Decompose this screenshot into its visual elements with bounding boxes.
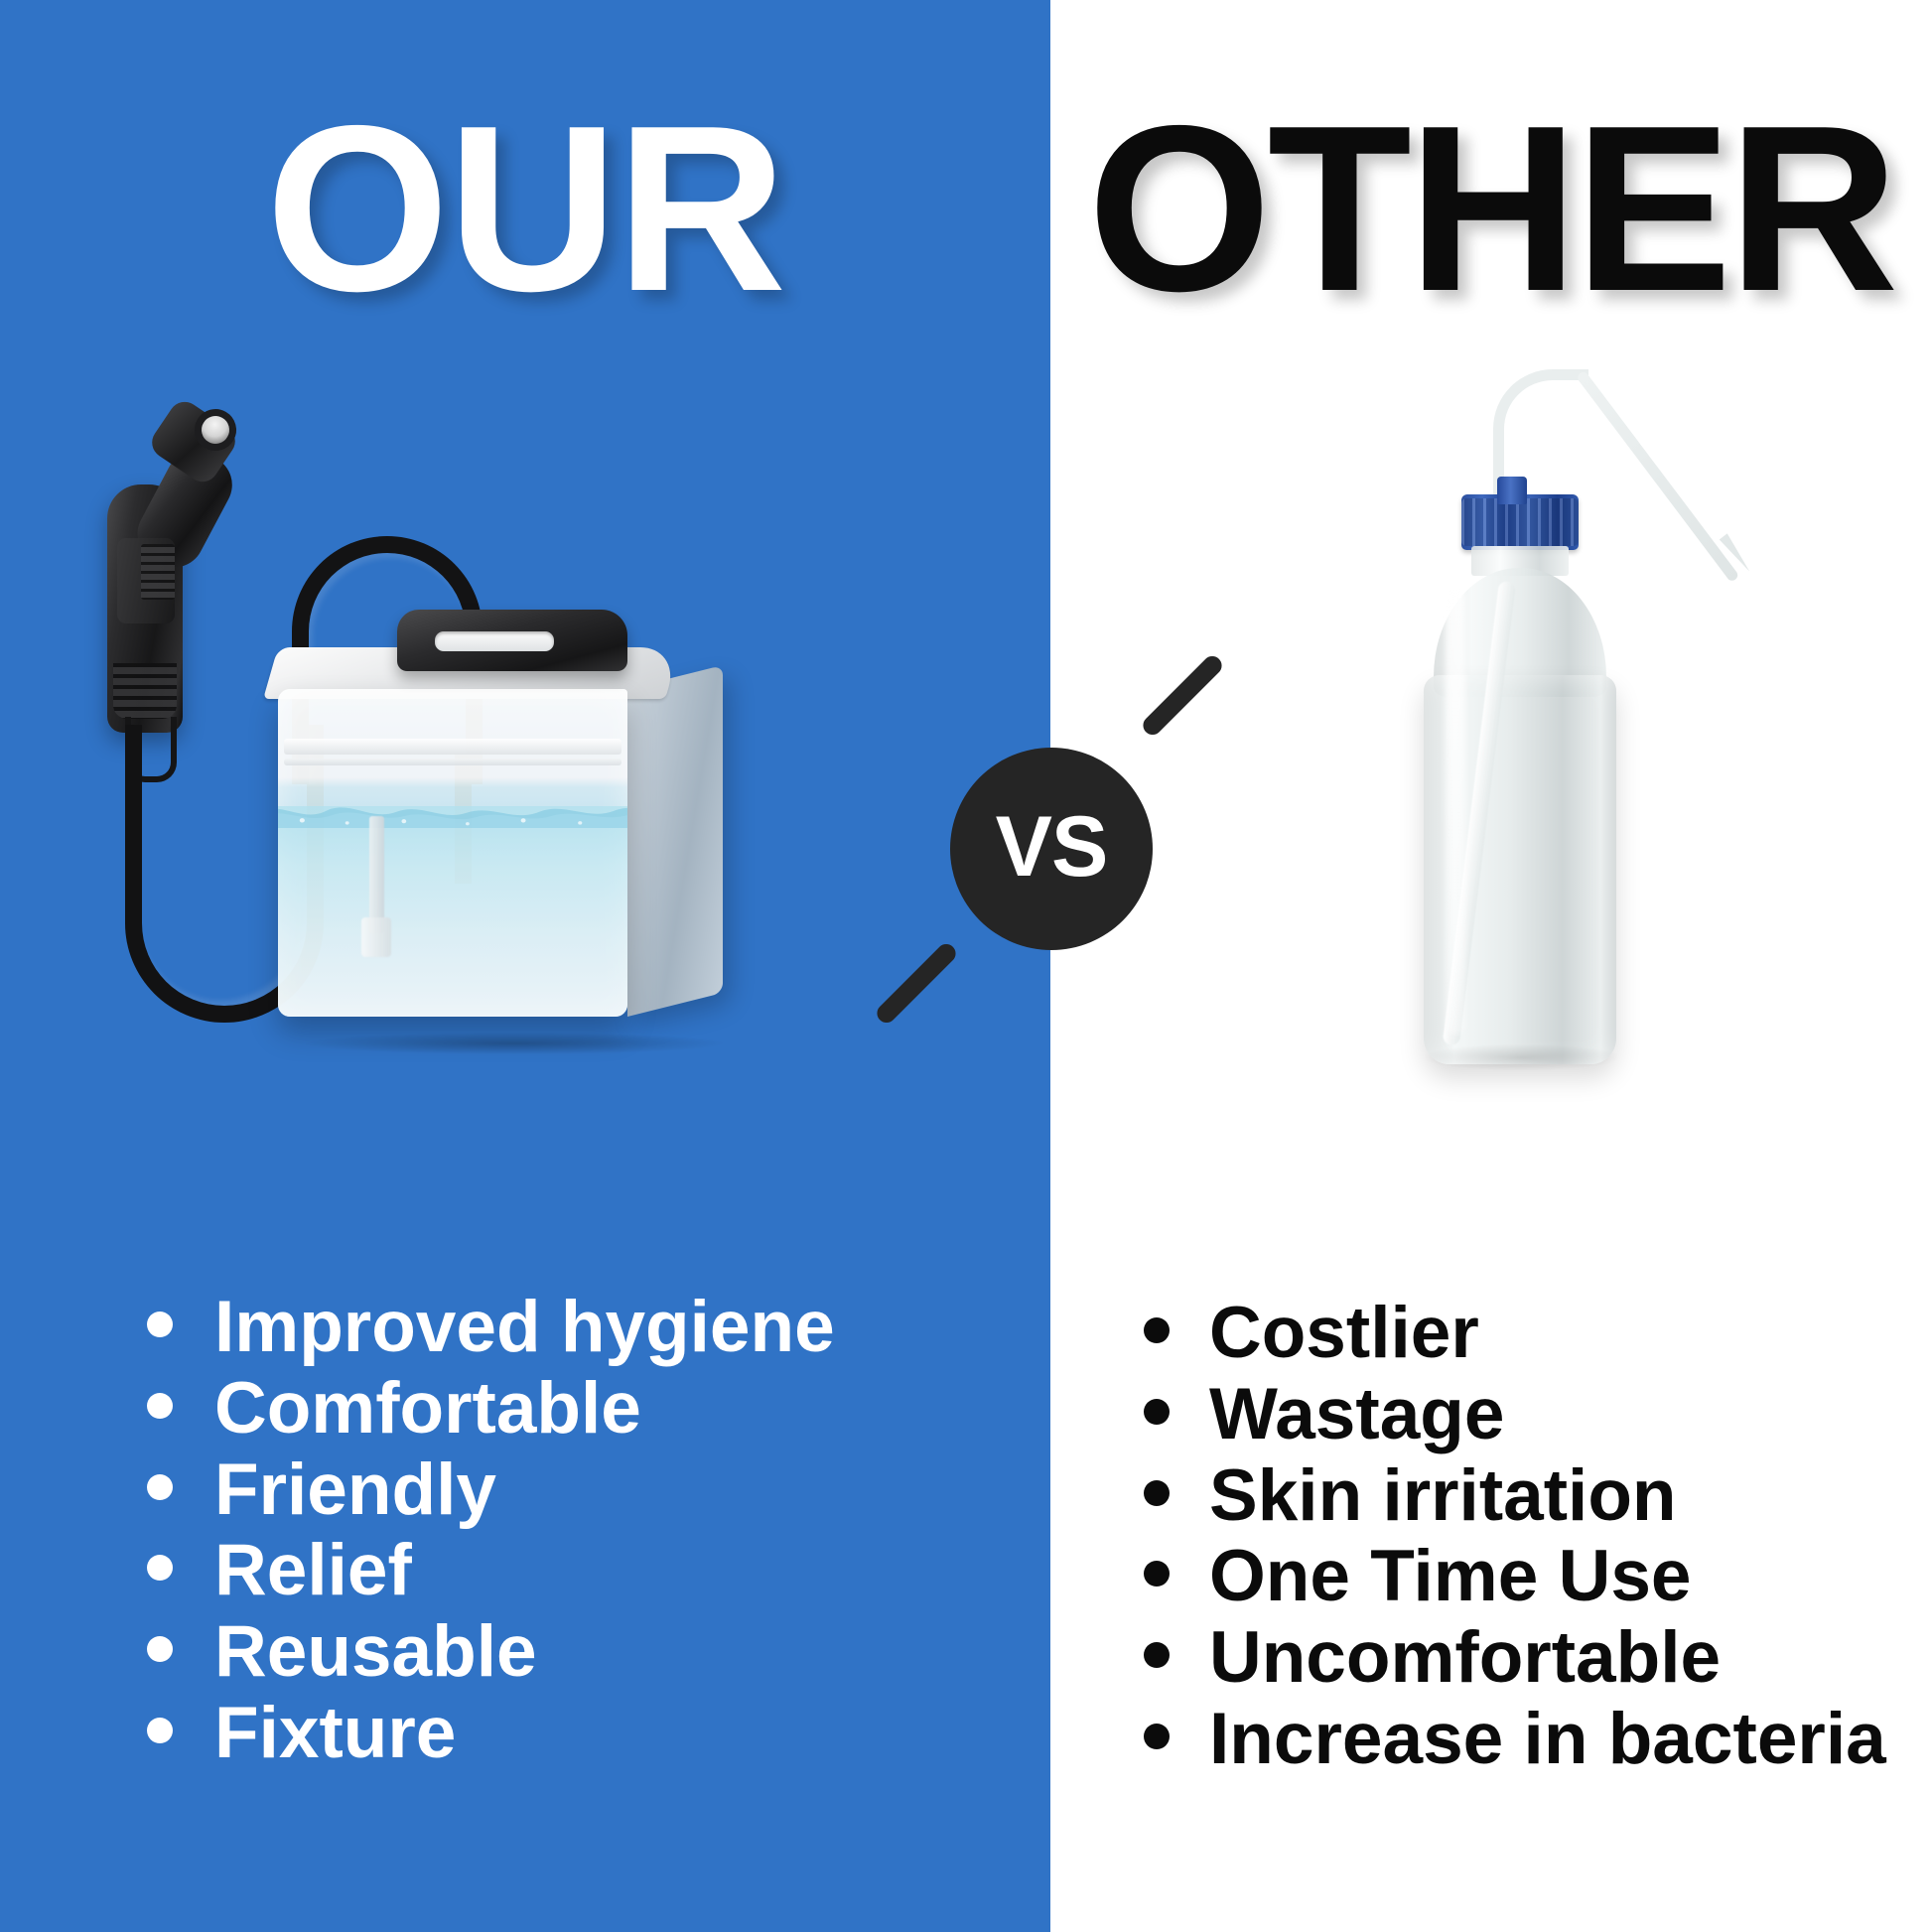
bullet-label: One Time Use (1209, 1536, 1692, 1617)
list-item: One Time Use (1144, 1536, 1886, 1617)
tank-rim-line-2 (284, 759, 621, 765)
spout-diagonal (1576, 370, 1739, 583)
other-title: OTHER (1050, 91, 1932, 328)
bullet-dot-icon (1144, 1480, 1170, 1506)
bullet-label: Costlier (1209, 1293, 1479, 1374)
bullet-label: Relief (214, 1530, 412, 1611)
bullet-label: Wastage (1209, 1374, 1505, 1455)
versus-badge-circle: VS (950, 748, 1153, 950)
bottle-drop-shadow (1426, 1044, 1616, 1070)
water-surface-wave (278, 794, 627, 828)
bottle-cap-spout-collar (1497, 477, 1527, 504)
bullet-label: Skin irritation (1209, 1455, 1677, 1537)
list-item: Costlier (1144, 1293, 1886, 1374)
versus-accent-line-top-right (1140, 652, 1226, 739)
bullet-dot-icon (1144, 1724, 1170, 1749)
bullet-label: Improved hygiene (214, 1287, 835, 1368)
list-item: Skin irritation (1144, 1455, 1886, 1537)
bottle-highlight (1446, 588, 1465, 1035)
list-item: Relief (147, 1530, 835, 1611)
versus-badge-group: VS (847, 646, 1254, 1053)
bullet-label: Comfortable (214, 1368, 641, 1449)
bullet-dot-icon (1144, 1561, 1170, 1587)
bottle-cap-ribs (1461, 498, 1579, 546)
tank-front-face (278, 689, 627, 1017)
list-item: Increase in bacteria (1144, 1699, 1886, 1780)
bullet-label: Uncomfortable (1209, 1617, 1721, 1699)
comparison-infographic: OUR OTHER (0, 0, 1932, 1932)
tank-rim-line (284, 739, 621, 755)
tank-handle-opening (435, 631, 554, 651)
versus-label: VS (996, 804, 1108, 890)
sprayer-grip-ribs (141, 544, 175, 600)
water-tank (278, 647, 735, 1064)
list-item: Fixture (147, 1693, 835, 1774)
bullet-dot-icon (1144, 1317, 1170, 1343)
bullet-dot-icon (1144, 1642, 1170, 1668)
versus-accent-line-bottom-left (874, 940, 960, 1027)
list-item: Friendly (147, 1449, 835, 1531)
bullet-label: Increase in bacteria (1209, 1699, 1886, 1780)
other-drawbacks-list: Costlier Wastage Skin irritation One Tim… (1144, 1293, 1886, 1780)
tank-internal-tube (369, 816, 384, 933)
our-product-image (69, 427, 894, 1082)
bullet-dot-icon (147, 1555, 173, 1581)
bullet-dot-icon (147, 1636, 173, 1662)
list-item: Wastage (1144, 1374, 1886, 1455)
our-title: OUR (0, 91, 1050, 328)
list-item: Comfortable (147, 1368, 835, 1449)
list-item: Improved hygiene (147, 1287, 835, 1368)
bullet-dot-icon (147, 1718, 173, 1743)
tank-drop-shadow (306, 1033, 723, 1054)
spout-arc (1493, 369, 1588, 488)
bullet-label: Fixture (214, 1693, 456, 1774)
list-item: Uncomfortable (1144, 1617, 1886, 1699)
bullet-dot-icon (147, 1311, 173, 1337)
bullet-dot-icon (1144, 1399, 1170, 1425)
sprayer-bottom-grip (113, 663, 177, 719)
other-product-image (1380, 377, 1807, 1132)
tank-tube-foot (361, 917, 391, 957)
bullet-dot-icon (147, 1474, 173, 1500)
list-item: Reusable (147, 1611, 835, 1693)
bullet-dot-icon (147, 1393, 173, 1419)
our-benefits-list: Improved hygiene Comfortable Friendly Re… (147, 1287, 835, 1774)
bullet-label: Reusable (214, 1611, 537, 1693)
bidet-spray-handle (79, 427, 268, 745)
tank-right-side (627, 665, 723, 1017)
tank-water-fill (278, 806, 627, 1017)
bullet-label: Friendly (214, 1449, 496, 1531)
